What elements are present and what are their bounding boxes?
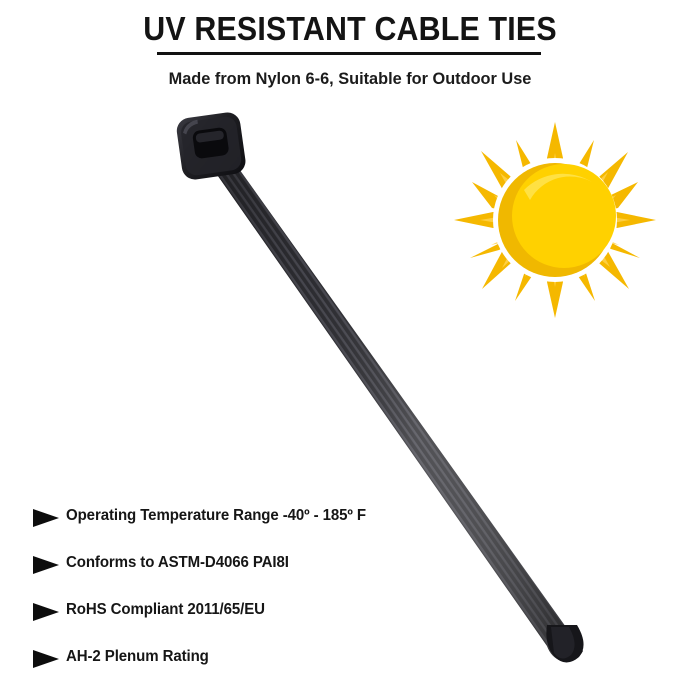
triangle-bullet-icon — [33, 509, 59, 527]
list-item: Conforms to ASTM-D4066 PAI8I — [0, 547, 480, 594]
header: UV RESISTANT CABLE TIES Made from Nylon … — [0, 0, 700, 100]
list-item: RoHS Compliant 2011/65/EU — [0, 594, 480, 641]
page-subtitle: Made from Nylon 6-6, Suitable for Outdoo… — [14, 68, 686, 89]
feature-label: AH-2 Plenum Rating — [66, 645, 209, 669]
list-item: Operating Temperature Range -40º - 185º … — [0, 500, 480, 547]
feature-label: Conforms to ASTM-D4066 PAI8I — [66, 551, 289, 575]
feature-list: Operating Temperature Range -40º - 185º … — [0, 500, 480, 688]
cable-tie-head — [175, 111, 247, 181]
page-title: UV RESISTANT CABLE TIES — [28, 11, 672, 47]
list-item: AH-2 Plenum Rating — [0, 641, 480, 688]
title-divider — [157, 52, 541, 55]
feature-label: RoHS Compliant 2011/65/EU — [66, 598, 265, 622]
feature-label: Operating Temperature Range -40º - 185º … — [66, 504, 366, 528]
triangle-bullet-icon — [33, 556, 59, 574]
cable-tie-head-slot — [192, 127, 230, 159]
triangle-bullet-icon — [33, 603, 59, 621]
product-infographic: UV RESISTANT CABLE TIES Made from Nylon … — [0, 0, 700, 700]
triangle-bullet-icon — [33, 650, 59, 668]
